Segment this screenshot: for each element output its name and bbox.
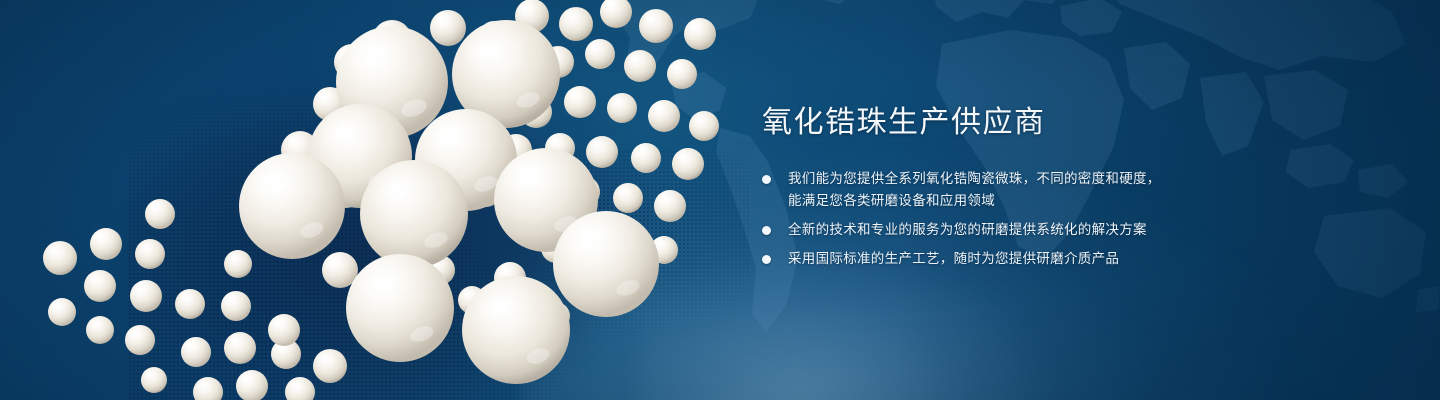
list-item-line-1: 采用国际标准的生产工艺，随时为您提供研磨介质产品 (788, 248, 1232, 270)
hero-banner: 氧化锆珠生产供应商 我们能为您提供全系列氧化锆陶瓷微珠，不同的密度和硬度， 能满… (0, 0, 1440, 400)
list-item: 我们能为您提供全系列氧化锆陶瓷微珠，不同的密度和硬度， 能满足您各类研磨设备和应… (762, 168, 1232, 212)
list-item: 采用国际标准的生产工艺，随时为您提供研磨介质产品 (762, 248, 1232, 270)
page-title: 氧化锆珠生产供应商 (762, 104, 1232, 142)
bullet-dot-icon (762, 255, 771, 264)
bullet-dot-icon (762, 175, 771, 184)
list-item-line-2: 能满足您各类研磨设备和应用领域 (788, 190, 1232, 212)
halftone-texture-secondary (330, 150, 750, 400)
list-item: 全新的技术和专业的服务为您的研磨提供系统化的解决方案 (762, 219, 1232, 241)
list-item-line-1: 我们能为您提供全系列氧化锆陶瓷微珠，不同的密度和硬度， (788, 168, 1232, 190)
banner-copy: 氧化锆珠生产供应商 我们能为您提供全系列氧化锆陶瓷微珠，不同的密度和硬度， 能满… (762, 104, 1232, 270)
feature-list: 我们能为您提供全系列氧化锆陶瓷微珠，不同的密度和硬度， 能满足您各类研磨设备和应… (762, 168, 1232, 270)
bullet-dot-icon (762, 226, 771, 235)
list-item-line-1: 全新的技术和专业的服务为您的研磨提供系统化的解决方案 (788, 219, 1232, 241)
